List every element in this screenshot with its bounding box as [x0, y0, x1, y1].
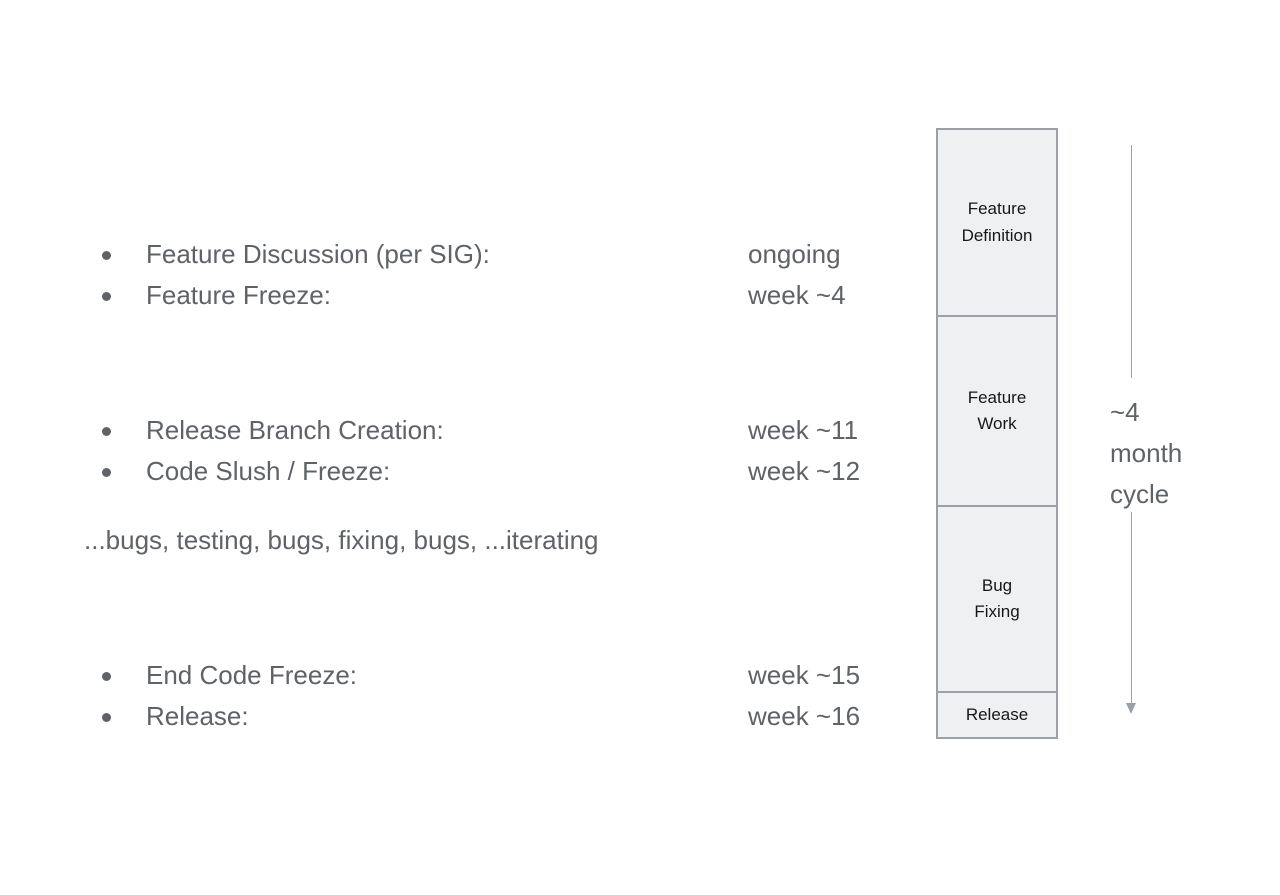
- timeline-group: End Code Freeze:week ~15Release:week ~16: [84, 655, 904, 737]
- timeline-item-value: week ~4: [748, 275, 846, 316]
- timeline-row: Feature Discussion (per SIG):ongoing: [84, 234, 904, 275]
- cycle-arrow-line-bottom: [1131, 512, 1132, 707]
- timeline-row: Release:week ~16: [84, 696, 904, 737]
- bullet-dot-icon: [102, 672, 111, 681]
- timeline-item-label: Code Slush / Freeze:: [146, 451, 390, 492]
- timeline-item-value: week ~16: [748, 696, 860, 737]
- phase-box-label: Feature Definition: [962, 196, 1033, 249]
- slide-canvas: Feature Discussion (per SIG):ongoingFeat…: [0, 0, 1280, 895]
- timeline-row: Feature Freeze:week ~4: [84, 275, 904, 316]
- release-phase-column: Feature DefinitionFeature WorkBug Fixing…: [936, 128, 1058, 739]
- timeline-item-value: ongoing: [748, 234, 841, 275]
- bullet-dot-icon: [102, 251, 111, 260]
- phase-box: Bug Fixing: [938, 507, 1056, 693]
- phase-box-label: Feature Work: [968, 385, 1027, 438]
- timeline-item-value: week ~15: [748, 655, 860, 696]
- phase-box-label: Release: [966, 702, 1028, 728]
- timeline-row: End Code Freeze:week ~15: [84, 655, 904, 696]
- timeline-row: Release Branch Creation:week ~11: [84, 410, 904, 451]
- timeline-group: Release Branch Creation:week ~11Code Slu…: [84, 410, 904, 492]
- cycle-duration-caption: ~4 month cycle: [1110, 392, 1240, 515]
- bullet-dot-icon: [102, 468, 111, 477]
- timeline-item-label: Feature Discussion (per SIG):: [146, 234, 490, 275]
- bullet-dot-icon: [102, 427, 111, 436]
- timeline-item-label: End Code Freeze:: [146, 655, 357, 696]
- down-arrow-icon: [1126, 703, 1136, 714]
- phase-box: Release: [938, 693, 1056, 737]
- bullet-dot-icon: [102, 713, 111, 722]
- cycle-arrow-line-top: [1131, 145, 1132, 378]
- timeline-item-label: Release Branch Creation:: [146, 410, 444, 451]
- phase-box: Feature Definition: [938, 130, 1056, 317]
- bullet-dot-icon: [102, 292, 111, 301]
- phase-box-label: Bug Fixing: [974, 573, 1019, 626]
- timeline-row: Code Slush / Freeze:week ~12: [84, 451, 904, 492]
- timeline-item-label: Feature Freeze:: [146, 275, 331, 316]
- iterating-note: ...bugs, testing, bugs, fixing, bugs, ..…: [84, 520, 599, 561]
- timeline-item-value: week ~12: [748, 451, 860, 492]
- timeline-item-value: week ~11: [748, 410, 858, 451]
- timeline-item-label: Release:: [146, 696, 249, 737]
- timeline-group: Feature Discussion (per SIG):ongoingFeat…: [84, 234, 904, 316]
- phase-box: Feature Work: [938, 317, 1056, 507]
